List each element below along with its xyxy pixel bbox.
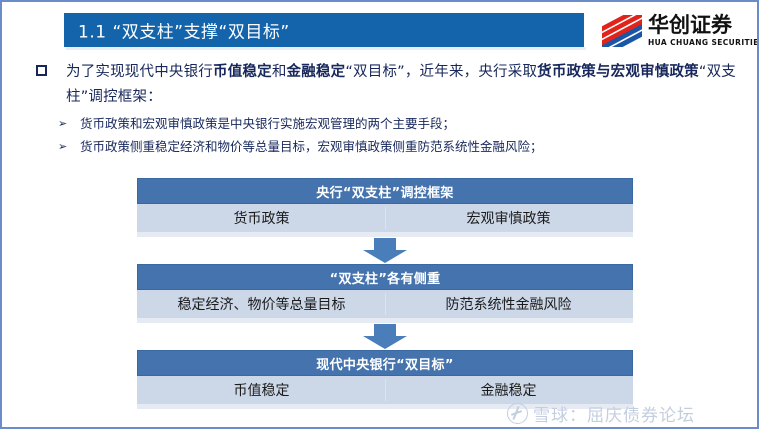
main-bullet-seg-2: 和 xyxy=(272,64,287,80)
diagram-block-shadow xyxy=(137,404,633,409)
diagram-block: 现代中央银行“双目标” 币值稳定 金融稳定 xyxy=(137,350,633,409)
title-bar-shadow xyxy=(66,47,586,50)
arrow-down-icon xyxy=(363,238,407,263)
main-bullet-bold-2: 金融稳定 xyxy=(287,64,346,80)
main-bullet-seg-3: “双目标”，近年来，央行采取 xyxy=(345,64,537,80)
diagram-cell-left: 币值稳定 xyxy=(138,376,385,404)
page-title: 1.1 “双支柱”支撑“双目标” xyxy=(78,18,290,43)
slide-header: 1.1 “双支柱”支撑“双目标” 华创证券 HUA CHUANG SECURIT… xyxy=(2,2,759,57)
arrow-down-icon xyxy=(363,324,407,349)
diagram-cell-right: 金融稳定 xyxy=(385,376,632,404)
sub-bullet-item: ➢ 货币政策侧重稳定经济和物价等总量目标，宏观审慎政策侧重防范系统性金融风险； xyxy=(58,135,748,158)
slide-canvas: 1.1 “双支柱”支撑“双目标” 华创证券 HUA CHUANG SECURIT… xyxy=(0,0,759,429)
diagram-block-body: 货币政策 宏观审慎政策 xyxy=(137,204,633,232)
sub-bullet-text: 货币政策侧重稳定经济和物价等总量目标，宏观审慎政策侧重防范系统性金融风险； xyxy=(80,139,543,154)
logo-name-en: HUA CHUANG SECURITIES xyxy=(648,39,759,47)
logo-mark-icon xyxy=(602,15,642,47)
main-bullet-seg-1: 为了实现现代中央银行 xyxy=(66,64,213,80)
company-logo: 华创证券 HUA CHUANG SECURITIES xyxy=(602,11,754,51)
diagram-cell-left: 稳定经济、物价等总量目标 xyxy=(138,290,385,318)
diagram-cell-left: 货币政策 xyxy=(138,204,385,232)
diagram-block: 央行“双支柱”调控框架 货币政策 宏观审慎政策 xyxy=(137,178,633,237)
arrow-bullet-icon: ➢ xyxy=(58,135,67,158)
flow-diagram: 央行“双支柱”调控框架 货币政策 宏观审慎政策 “双支柱”各有侧重 稳定经济、物… xyxy=(137,178,633,409)
diagram-block-header: 现代中央银行“双目标” xyxy=(137,350,633,376)
diagram-arrow-1 xyxy=(137,237,633,264)
arrow-bullet-icon: ➢ xyxy=(58,112,67,135)
main-bullet-bold-3: 货币 xyxy=(537,64,566,80)
title-bar: 1.1 “双支柱”支撑“双目标” xyxy=(64,13,584,47)
square-bullet-icon xyxy=(36,65,47,76)
logo-text: 华创证券 HUA CHUANG SECURITIES xyxy=(648,15,759,47)
sub-bullet-text: 货币政策和宏观审慎政策是中央银行实施宏观管理的两个主要手段； xyxy=(80,116,455,131)
main-bullet: 为了实现现代中央银行币值稳定和金融稳定“双目标”，近年来，央行采取货币政策与宏观… xyxy=(36,60,736,110)
diagram-block-header: “双支柱”各有侧重 xyxy=(137,264,633,290)
diagram-block-body: 币值稳定 金融稳定 xyxy=(137,376,633,404)
diagram-cell-right: 宏观审慎政策 xyxy=(385,204,632,232)
main-bullet-bold-4: 政策与宏观审慎政策 xyxy=(567,64,699,80)
diagram-block-body: 稳定经济、物价等总量目标 防范系统性金融风险 xyxy=(137,290,633,318)
diagram-block-header: 央行“双支柱”调控框架 xyxy=(137,178,633,204)
main-bullet-text: 为了实现现代中央银行币值稳定和金融稳定“双目标”，近年来，央行采取货币政策与宏观… xyxy=(66,60,736,110)
main-bullet-bold-1: 币值稳定 xyxy=(213,64,272,80)
diagram-cell-right: 防范系统性金融风险 xyxy=(385,290,632,318)
diagram-arrow-2 xyxy=(137,323,633,350)
sub-bullet-list: ➢ 货币政策和宏观审慎政策是中央银行实施宏观管理的两个主要手段； ➢ 货币政策侧… xyxy=(58,112,748,158)
logo-name-cn: 华创证券 xyxy=(648,15,759,36)
diagram-block: “双支柱”各有侧重 稳定经济、物价等总量目标 防范系统性金融风险 xyxy=(137,264,633,323)
sub-bullet-item: ➢ 货币政策和宏观审慎政策是中央银行实施宏观管理的两个主要手段； xyxy=(58,112,748,135)
